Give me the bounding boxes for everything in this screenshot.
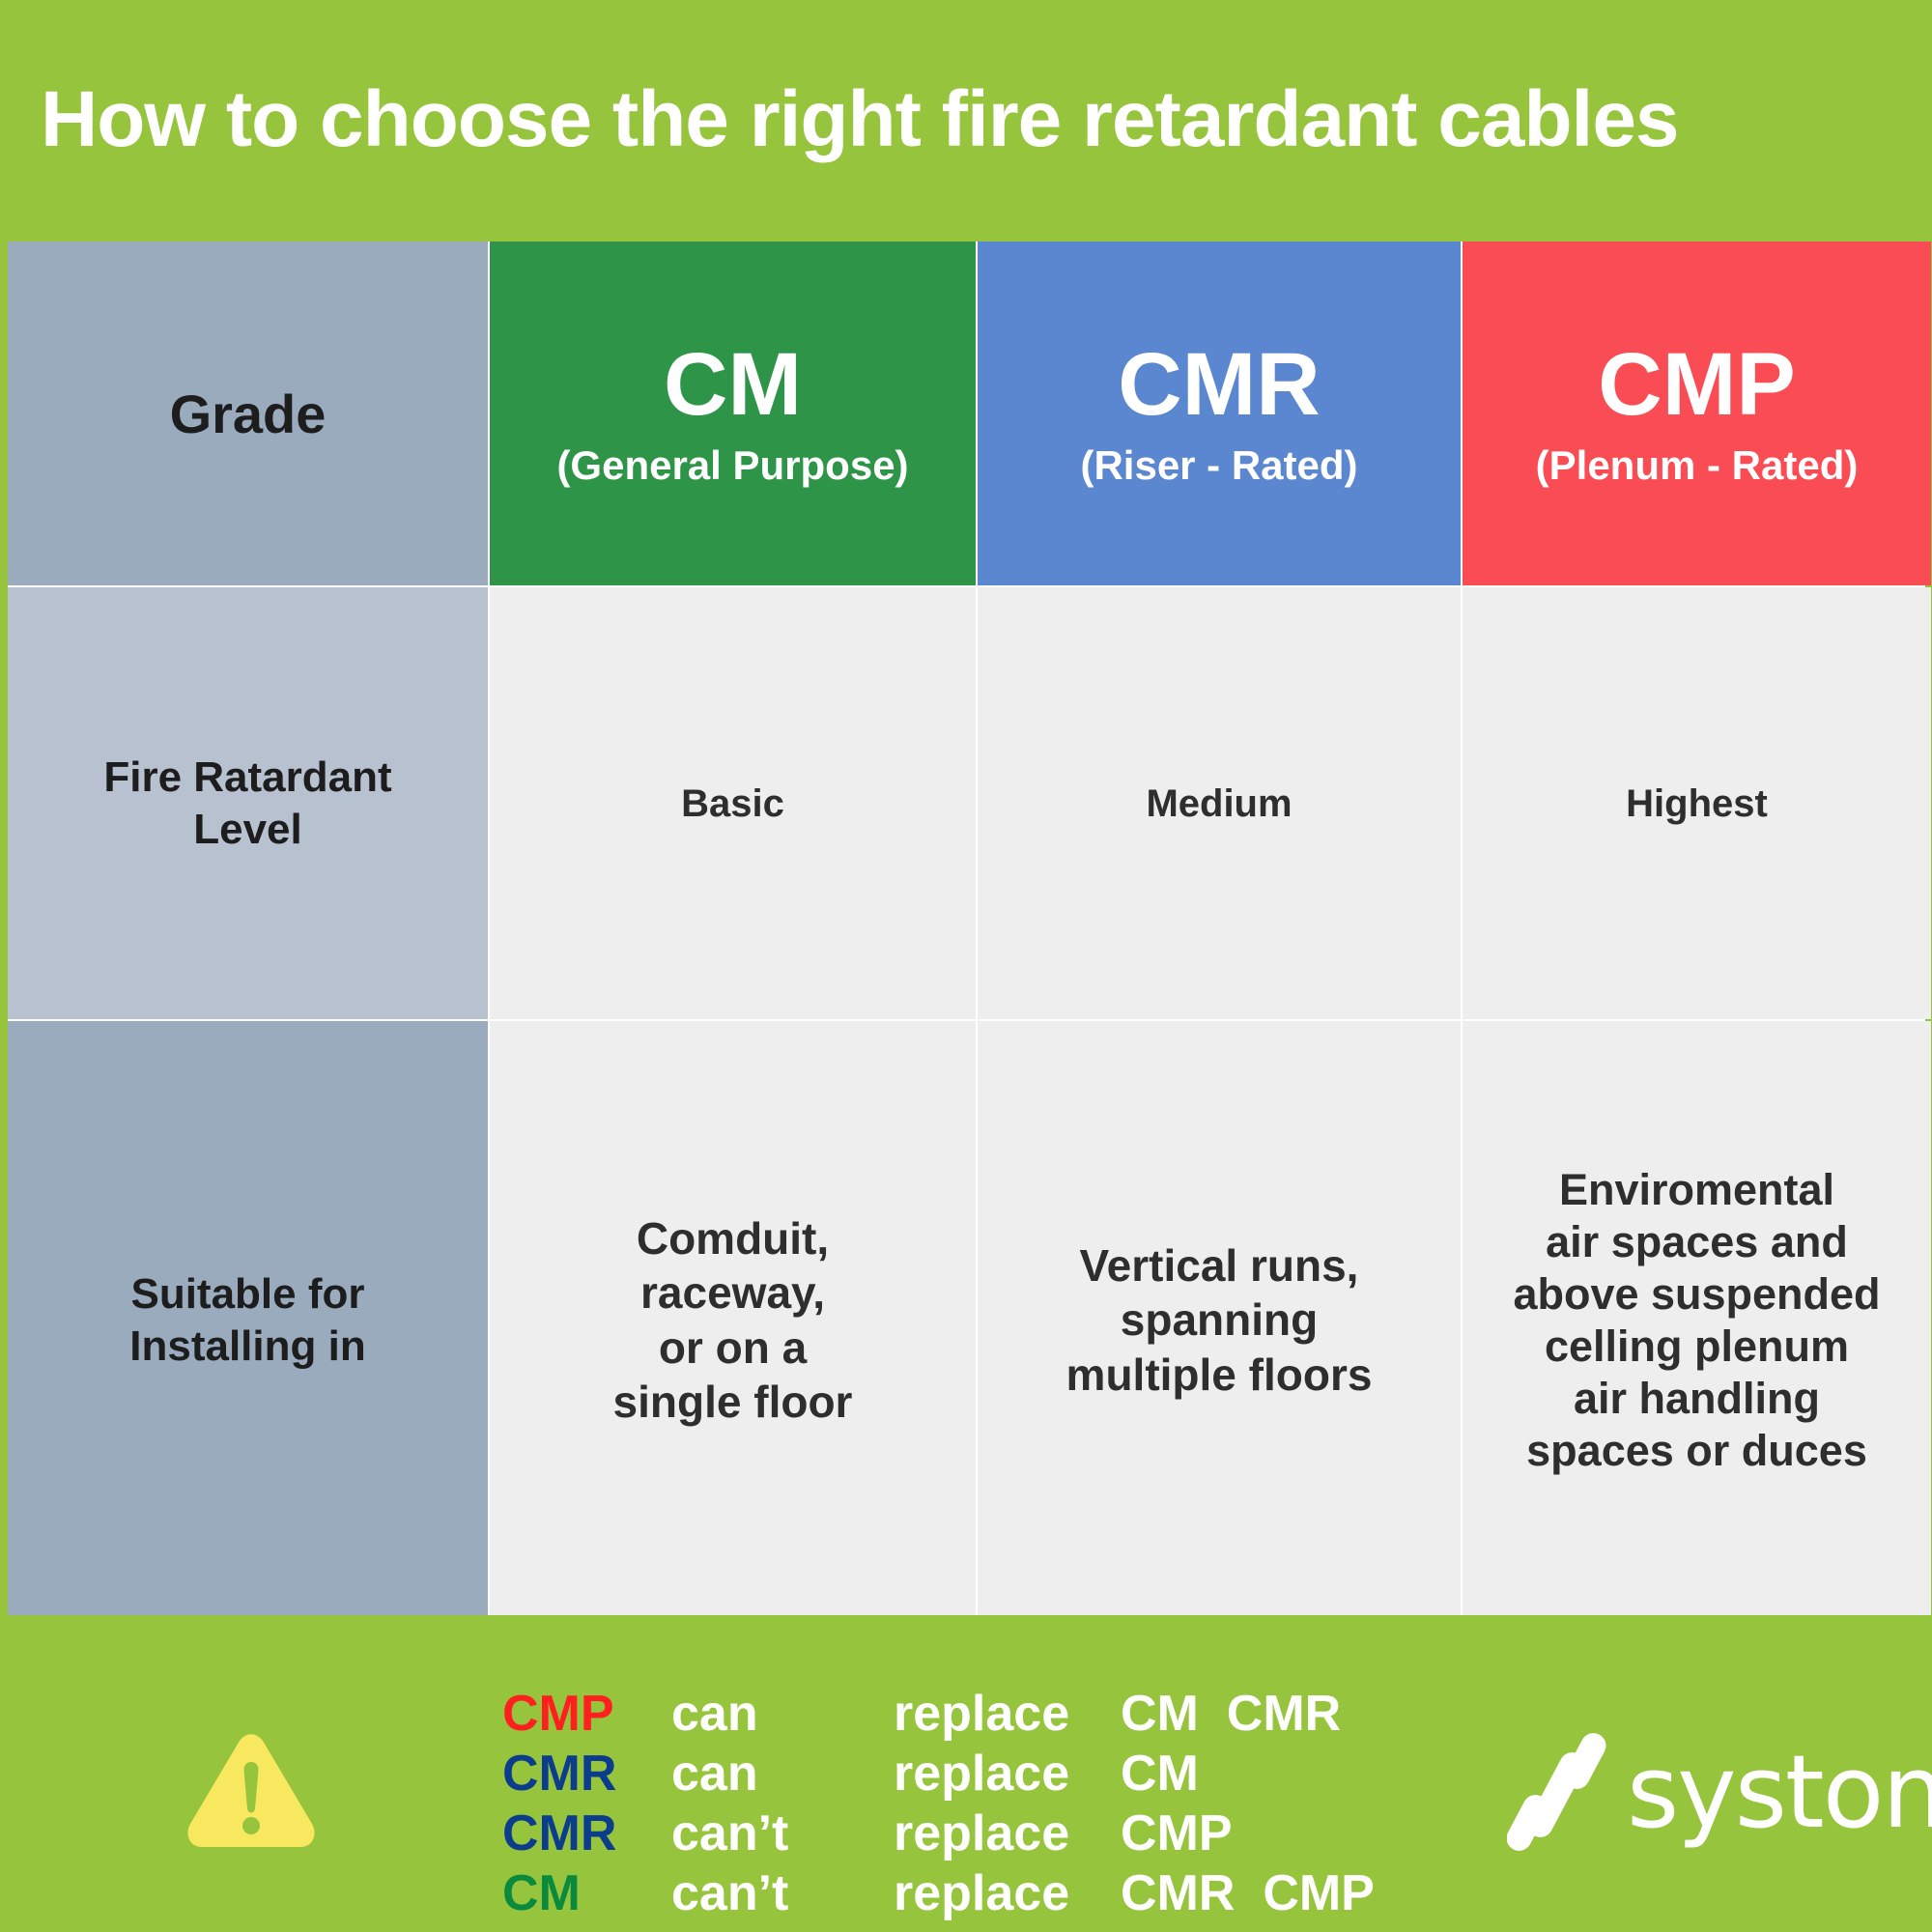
rule-row: CMR can’t replace CMP (502, 1808, 1420, 1868)
row-label-fire-retardant-level: Fire Ratardant Level (8, 587, 488, 1019)
cell-text: Basic (681, 781, 784, 827)
cell-text: air spaces and (1546, 1216, 1848, 1268)
table-header-cmp: CMP (Plenum - Rated) (1463, 241, 1931, 585)
cell-text: spaces or duces (1526, 1425, 1867, 1477)
cm-subtitle: (General Purpose) (556, 444, 908, 487)
cell-cmp-install: Enviromental air spaces and above suspen… (1463, 1021, 1931, 1619)
row-label-line2: Installing in (129, 1321, 365, 1373)
cmr-subtitle: (Riser - Rated) (1080, 444, 1357, 487)
rule-row: CM can’t replace CMR CMP (502, 1868, 1420, 1928)
rule-verb: can’t (671, 1868, 894, 1918)
cell-cm-level: Basic (490, 587, 976, 1019)
table-header-cmr: CMR (Riser - Rated) (978, 241, 1461, 585)
cell-text: Medium (1146, 781, 1292, 827)
cell-text: air handling (1574, 1373, 1820, 1425)
cell-text: spanning (1121, 1293, 1318, 1347)
table-header-grade: Grade (8, 241, 488, 585)
cell-text: Vertical runs, (1080, 1238, 1359, 1293)
rule-action: replace (894, 1689, 1121, 1739)
rule-targets: CM (1121, 1748, 1420, 1799)
cell-cmr-level: Medium (978, 587, 1461, 1019)
row-label-line2: Level (193, 804, 302, 856)
infographic-root: How to choose the right fire retardant c… (0, 0, 1932, 1932)
grade-label: Grade (170, 383, 327, 445)
rule-verb: can (671, 1689, 894, 1739)
cell-cmp-level: Highest (1463, 587, 1931, 1019)
rule-grade: CM (502, 1868, 671, 1918)
cmp-code: CMP (1598, 340, 1795, 429)
cell-text: single floor (613, 1375, 853, 1429)
rule-action: replace (894, 1748, 1121, 1799)
cell-text: above suspended (1513, 1268, 1880, 1321)
rule-verb: can’t (671, 1808, 894, 1859)
cell-cm-install: Comduit, raceway, or on a single floor (490, 1021, 976, 1619)
cm-code: CM (664, 340, 802, 429)
page-title: How to choose the right fire retardant c… (41, 80, 1679, 159)
rule-targets: CMR CMP (1121, 1868, 1420, 1918)
cell-cmr-install: Vertical runs, spanning multiple floors (978, 1021, 1461, 1619)
rule-grade: CMP (502, 1689, 671, 1739)
rule-verb: can (671, 1748, 894, 1799)
rule-targets: CMP (1121, 1808, 1420, 1859)
rule-row: CMR can replace CM (502, 1748, 1420, 1808)
cmr-code: CMR (1118, 340, 1321, 429)
cell-text: Comduit, (637, 1211, 829, 1265)
title-banner: How to choose the right fire retardant c… (0, 0, 1932, 240)
rule-targets: CM CMR (1121, 1689, 1420, 1739)
cell-text: raceway, (640, 1265, 825, 1320)
syston-logo: syston (1507, 1729, 1913, 1855)
cell-text: or on a (659, 1321, 807, 1375)
cell-text: celling plenum (1545, 1321, 1849, 1373)
cell-text: Highest (1626, 781, 1768, 827)
rule-grade: CMR (502, 1808, 671, 1859)
row-label-line1: Fire Ratardant (103, 752, 391, 804)
table-header-cm: CM (General Purpose) (490, 241, 976, 585)
row-label-suitable-for-installing-in: Suitable for Installing in (8, 1021, 488, 1619)
cell-text: multiple floors (1066, 1348, 1373, 1402)
rule-action: replace (894, 1808, 1121, 1859)
cell-text: Enviromental (1559, 1164, 1834, 1216)
rule-action: replace (894, 1868, 1121, 1918)
rule-grade: CMR (502, 1748, 671, 1799)
cmp-subtitle: (Plenum - Rated) (1536, 444, 1859, 487)
syston-wordmark: syston (1627, 1742, 1932, 1842)
replacement-rules-list: CMP can replace CM CMR CMR can replace C… (502, 1689, 1420, 1928)
row-label-line1: Suitable for (130, 1268, 364, 1321)
rule-row: CMP can replace CM CMR (502, 1689, 1420, 1748)
warning-triangle-icon (184, 1729, 319, 1853)
comparison-table: Grade CM (General Purpose) CMR (Riser - … (8, 241, 1925, 1615)
syston-slash-mark-icon (1507, 1733, 1615, 1851)
